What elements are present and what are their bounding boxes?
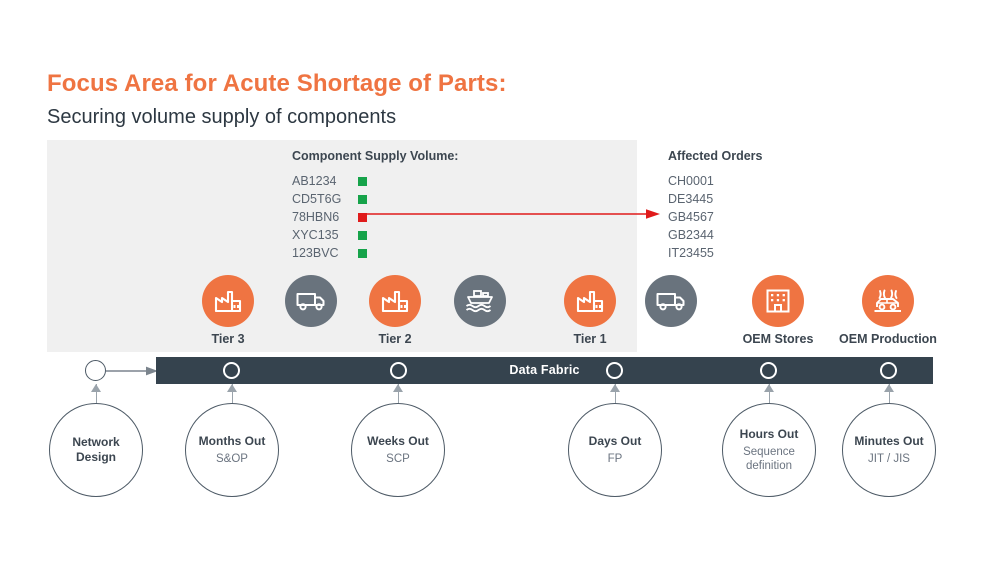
horizon-title: Days Out bbox=[589, 434, 642, 449]
supply-node-transport-ship[interactable] bbox=[454, 275, 506, 327]
supply-node-tier-3[interactable] bbox=[202, 275, 254, 327]
order-id: GB2344 bbox=[668, 228, 714, 242]
list-item: DE3445 bbox=[668, 190, 762, 208]
affected-orders-block: Affected Orders CH0001 DE3445 GB4567 GB2… bbox=[668, 149, 762, 262]
component-code: 78HBN6 bbox=[292, 210, 354, 224]
supply-node-label-oem-stores: OEM Stores bbox=[722, 332, 834, 346]
factory-icon bbox=[381, 290, 409, 312]
factory-icon bbox=[576, 290, 604, 312]
horizon-minutes-out[interactable]: Minutes Out JIT / JIS bbox=[842, 403, 936, 497]
horizon-title: Weeks Out bbox=[367, 434, 429, 449]
slide-canvas: Focus Area for Acute Shortage of Parts: … bbox=[0, 0, 1000, 563]
page-subtitle: Securing volume supply of components bbox=[47, 106, 396, 129]
supply-node-transport-truck-2[interactable] bbox=[645, 275, 697, 327]
list-item: AB1234 bbox=[292, 172, 458, 190]
impact-arrow-icon bbox=[360, 205, 660, 223]
order-id: DE3445 bbox=[668, 192, 713, 206]
truck-icon bbox=[296, 291, 326, 311]
list-item: 123BVC bbox=[292, 244, 458, 262]
supply-node-tier-2[interactable] bbox=[369, 275, 421, 327]
list-item: IT23455 bbox=[668, 244, 762, 262]
horizon-subtitle: FP bbox=[608, 452, 623, 466]
horizon-title: Hours Out bbox=[740, 427, 799, 442]
data-fabric-label: Data Fabric bbox=[156, 357, 933, 384]
supply-node-tier-1[interactable] bbox=[564, 275, 616, 327]
horizon-title: Months Out bbox=[199, 434, 266, 449]
order-id: GB4567 bbox=[668, 210, 714, 224]
data-fabric-bar[interactable]: Data Fabric bbox=[156, 357, 933, 384]
component-code: AB1234 bbox=[292, 174, 354, 188]
status-indicator-ok bbox=[358, 177, 367, 186]
list-item: CH0001 bbox=[668, 172, 762, 190]
fabric-node-days-out[interactable] bbox=[606, 362, 623, 379]
supply-node-label-tier-1: Tier 1 bbox=[564, 332, 616, 346]
fabric-node-weeks-out[interactable] bbox=[390, 362, 407, 379]
horizon-subtitle: Sequence definition bbox=[729, 445, 809, 473]
status-indicator-ok bbox=[358, 231, 367, 240]
status-indicator-ok bbox=[358, 195, 367, 204]
component-code: CD5T6G bbox=[292, 192, 354, 206]
horizon-subtitle: S&OP bbox=[216, 452, 248, 466]
fabric-node-months-out[interactable] bbox=[223, 362, 240, 379]
affected-orders-heading: Affected Orders bbox=[668, 149, 762, 163]
supply-node-label-oem-production: OEM Production bbox=[832, 332, 944, 346]
horizon-weeks-out[interactable]: Weeks Out SCP bbox=[351, 403, 445, 497]
status-indicator-ok bbox=[358, 249, 367, 258]
truck-icon bbox=[656, 291, 686, 311]
list-item: GB4567 bbox=[668, 208, 762, 226]
order-id: CH0001 bbox=[668, 174, 714, 188]
supply-node-label-tier-2: Tier 2 bbox=[369, 332, 421, 346]
fabric-node-hours-out[interactable] bbox=[760, 362, 777, 379]
horizon-months-out[interactable]: Months Out S&OP bbox=[185, 403, 279, 497]
ship-icon bbox=[465, 289, 495, 313]
building-icon bbox=[765, 288, 791, 314]
marker-triangle-icon bbox=[91, 384, 101, 392]
entry-arrow-icon bbox=[106, 362, 158, 380]
horizon-title: Network Design bbox=[56, 435, 136, 465]
supply-node-label-tier-3: Tier 3 bbox=[202, 332, 254, 346]
horizon-subtitle: JIT / JIS bbox=[868, 452, 910, 466]
marker-triangle-icon bbox=[393, 384, 403, 392]
car-assembly-icon bbox=[873, 288, 903, 314]
horizon-subtitle: SCP bbox=[386, 452, 410, 466]
supply-node-transport-truck-1[interactable] bbox=[285, 275, 337, 327]
list-item: XYC135 bbox=[292, 226, 458, 244]
horizon-hours-out[interactable]: Hours Out Sequence definition bbox=[722, 403, 816, 497]
list-item: GB2344 bbox=[668, 226, 762, 244]
supply-node-oem-production[interactable] bbox=[862, 275, 914, 327]
fabric-node-minutes-out[interactable] bbox=[880, 362, 897, 379]
marker-triangle-icon bbox=[610, 384, 620, 392]
factory-icon bbox=[214, 290, 242, 312]
component-code: XYC135 bbox=[292, 228, 354, 242]
horizon-title: Minutes Out bbox=[854, 434, 923, 449]
network-entry-node[interactable] bbox=[85, 360, 106, 381]
component-supply-heading: Component Supply Volume: bbox=[292, 149, 458, 163]
marker-triangle-icon bbox=[764, 384, 774, 392]
horizon-days-out[interactable]: Days Out FP bbox=[568, 403, 662, 497]
marker-triangle-icon bbox=[227, 384, 237, 392]
order-id: IT23455 bbox=[668, 246, 714, 260]
supply-node-oem-stores[interactable] bbox=[752, 275, 804, 327]
marker-triangle-icon bbox=[884, 384, 894, 392]
component-code: 123BVC bbox=[292, 246, 354, 260]
page-title: Focus Area for Acute Shortage of Parts: bbox=[47, 70, 507, 98]
horizon-network-design[interactable]: Network Design bbox=[49, 403, 143, 497]
